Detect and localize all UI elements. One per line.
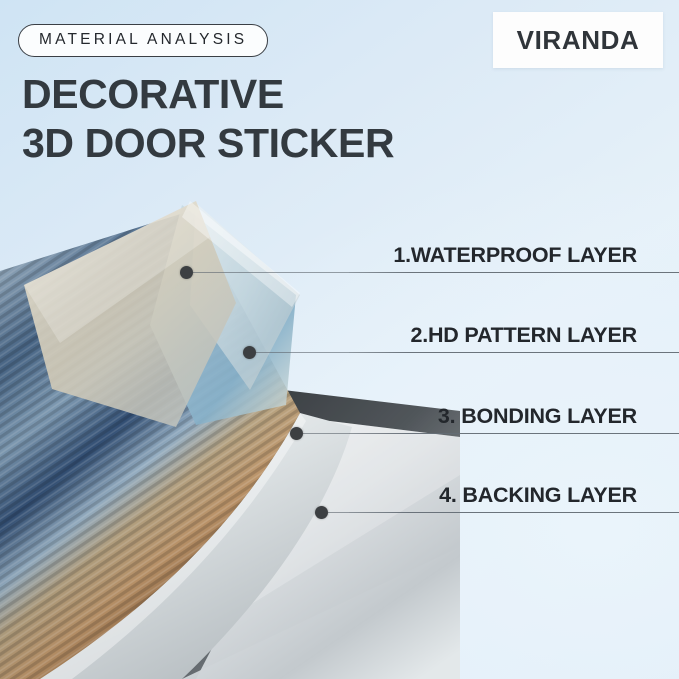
poster-canvas: MATERIAL ANALYSIS DECORATIVE 3D DOOR STI… bbox=[0, 0, 679, 679]
page-title-line-2: 3D DOOR STICKER bbox=[22, 119, 394, 168]
material-analysis-badge: MATERIAL ANALYSIS bbox=[18, 24, 268, 57]
callout-label-4: 4. BACKING LAYER bbox=[439, 483, 637, 508]
page-title-line-1: DECORATIVE bbox=[22, 71, 284, 117]
sticker-illustration bbox=[0, 175, 460, 679]
brand-logo-text: VIRANDA bbox=[517, 25, 640, 56]
sticker-artwork-svg bbox=[0, 175, 460, 679]
callout-label-3: 3. BONDING LAYER bbox=[438, 404, 637, 429]
brand-logo-box: VIRANDA bbox=[493, 12, 663, 68]
page-title: DECORATIVE 3D DOOR STICKER bbox=[22, 70, 394, 168]
